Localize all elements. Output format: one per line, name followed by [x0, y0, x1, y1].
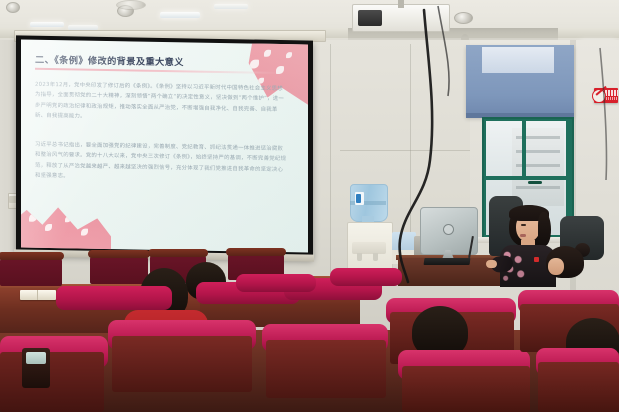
- water-dispenser-cold-tap[interactable]: [373, 253, 378, 261]
- ceiling-speaker-3: [116, 0, 146, 10]
- projection-screen: 二、《条例》修改的背景及重大意义 2023年12月，党中央印发了修订后的《条例》…: [21, 39, 308, 252]
- seat-frame-4: [226, 248, 286, 256]
- seat-frame-3: [148, 249, 208, 257]
- window-mullion-horizontal: [486, 176, 566, 180]
- presenter-hand: [486, 260, 497, 268]
- building-window-row-4: [516, 186, 560, 189]
- conference-room-photo: 二、《条例》修改的背景及重大意义 2023年12月，党中央印发了修订后的《条例》…: [0, 0, 619, 412]
- seat-frame-2: [88, 250, 150, 258]
- ceiling-light-4: [214, 4, 248, 9]
- presenter-eye: [521, 224, 526, 226]
- audience-seat-4-wood: [112, 336, 252, 392]
- projector-mount: [398, 0, 404, 8]
- keyboard[interactable]: [424, 258, 471, 265]
- presenter-hair-side: [538, 212, 551, 246]
- audience-seat-5-wood: [0, 352, 104, 412]
- water-bottle-label-art: [356, 194, 361, 203]
- screen-glare: [21, 39, 308, 252]
- window-mullion-vertical: [522, 121, 526, 176]
- exterior-building: [512, 128, 564, 206]
- ceiling-light-1: [30, 22, 64, 27]
- wall-seam-3: [340, 150, 470, 151]
- seat-back-1[interactable]: [0, 256, 62, 286]
- seat-frame-1: [0, 252, 64, 260]
- seat-back-2[interactable]: [90, 254, 148, 284]
- audience-seat-11[interactable]: [330, 268, 402, 286]
- ceiling-light-3: [160, 12, 200, 18]
- audience-seat-6-wood: [266, 340, 386, 398]
- attendee-4-face: [548, 258, 564, 275]
- wall-seam-2: [410, 44, 411, 244]
- presenter-badge: [534, 257, 539, 262]
- water-dispenser-hot-tap[interactable]: [357, 253, 362, 261]
- audience-seat-8-wood: [402, 366, 530, 412]
- ceiling-speaker-1: [6, 2, 20, 13]
- projector-lens-icon: [358, 10, 382, 26]
- notebook-spine: [37, 290, 38, 300]
- audience-seat-12[interactable]: [236, 274, 316, 292]
- ceiling-speaker-4: [454, 12, 473, 24]
- window-handle[interactable]: [528, 181, 542, 184]
- armrest-writing-pad[interactable]: [26, 352, 46, 364]
- audience-seat-cushion-1[interactable]: [56, 286, 172, 310]
- blind-highlight: [482, 47, 554, 73]
- presenter-mouth: [520, 234, 526, 237]
- wall-seam-1: [330, 44, 331, 274]
- audience-seat-10-wood: [538, 362, 619, 412]
- monitor-brand-logo: [443, 224, 454, 235]
